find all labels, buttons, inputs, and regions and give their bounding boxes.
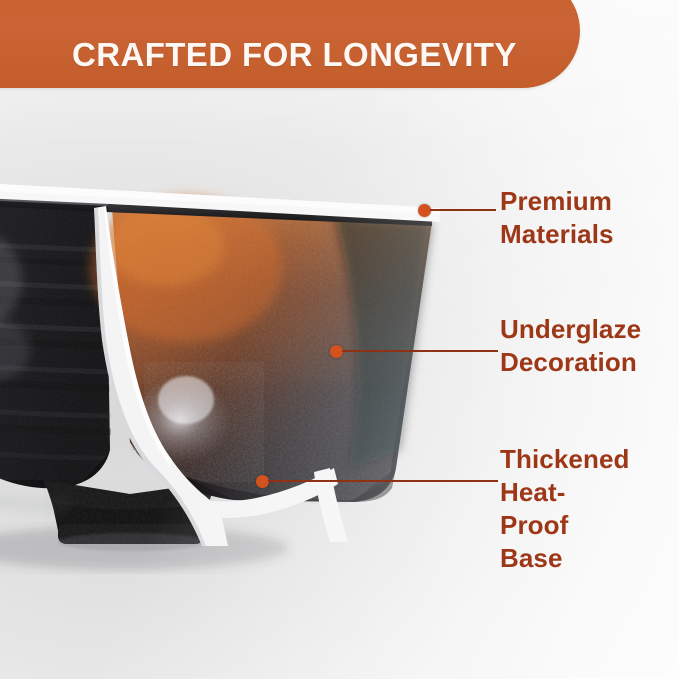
callout-label-premium-materials: Premium Materials xyxy=(500,185,614,251)
infographic-canvas: CRAFTED FOR LONGEVITY Premium Materials … xyxy=(0,0,679,679)
callout-leader-line xyxy=(430,209,496,211)
callout-label-underglaze-decoration: Underglaze Decoration xyxy=(500,313,641,379)
callout-leader-line xyxy=(342,350,498,352)
bowl-illustration xyxy=(0,150,454,590)
bowl-interior-glaze xyxy=(90,194,444,510)
callout-label-thickened-heat-proof-base: Thickened Heat-Proof Base xyxy=(500,443,630,575)
page-title: CRAFTED FOR LONGEVITY xyxy=(72,20,592,90)
product-bowl-image xyxy=(0,150,454,590)
callout-leader-line xyxy=(268,480,498,482)
